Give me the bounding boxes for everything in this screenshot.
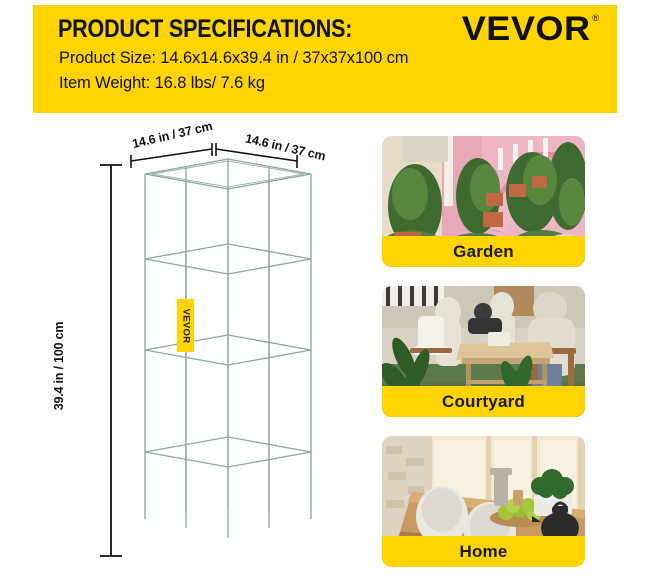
registered-trademark-icon: ® <box>592 14 599 23</box>
scene-card-courtyard[interactable]: Courtyard <box>382 286 585 417</box>
dimension-label-height: 39.4 in / 100 cm <box>52 286 66 446</box>
product-specifications-banner: PRODUCT SPECIFICATIONS: VEVOR ® Product … <box>33 5 617 113</box>
scene-card-label-courtyard: Courtyard <box>382 386 585 417</box>
page-title: PRODUCT SPECIFICATIONS: <box>58 15 352 44</box>
product-dimension-diagram: 14.6 in / 37 cm 14.6 in / 37 cm 39.4 in … <box>0 113 365 581</box>
cage-frame <box>145 159 311 538</box>
scene-card-home[interactable]: Home <box>382 436 585 567</box>
scene-card-label-garden: Garden <box>382 236 585 267</box>
spec-product-size: Product Size: 14.6x14.6x39.4 in / 37x37x… <box>59 49 408 68</box>
vevor-logo: VEVOR ® <box>469 12 599 46</box>
vevor-wordmark: VEVOR <box>462 12 591 46</box>
vevor-sticker-text: VEVOR <box>180 308 191 343</box>
scene-card-garden[interactable]: Garden <box>382 136 585 267</box>
vevor-sticker: VEVOR <box>177 299 194 352</box>
scene-card-list: Garden <box>382 136 587 586</box>
height-dimension-line <box>100 165 122 556</box>
scene-card-label-home: Home <box>382 536 585 567</box>
spec-item-weight: Item Weight: 16.8 lbs/ 7.6 kg <box>59 74 265 93</box>
